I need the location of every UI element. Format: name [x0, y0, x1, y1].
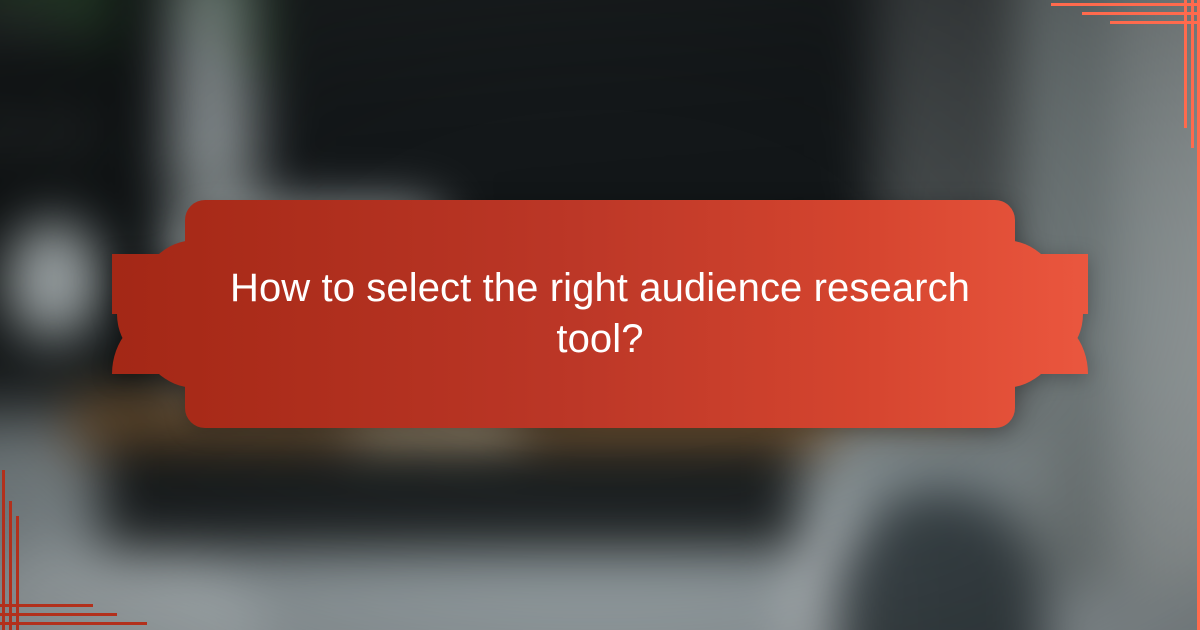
- bracket-line-v2: [9, 501, 12, 630]
- bracket-line-h1: [0, 604, 93, 607]
- bracket-line-v2: [1191, 0, 1194, 148]
- bracket-line-v1: [1184, 0, 1187, 128]
- bracket-line-v1: [2, 470, 5, 630]
- graphic-canvas: How to select the right audience researc…: [0, 0, 1200, 630]
- bracket-line-h3: [0, 622, 147, 625]
- bracket-line-v3: [16, 516, 19, 630]
- corner-bracket-top-right: [1040, 0, 1200, 160]
- page-title: How to select the right audience researc…: [170, 196, 1030, 432]
- bracket-line-h1: [1051, 3, 1200, 6]
- corner-bracket-bottom-left: [0, 470, 160, 630]
- bracket-line-h2: [1082, 12, 1200, 15]
